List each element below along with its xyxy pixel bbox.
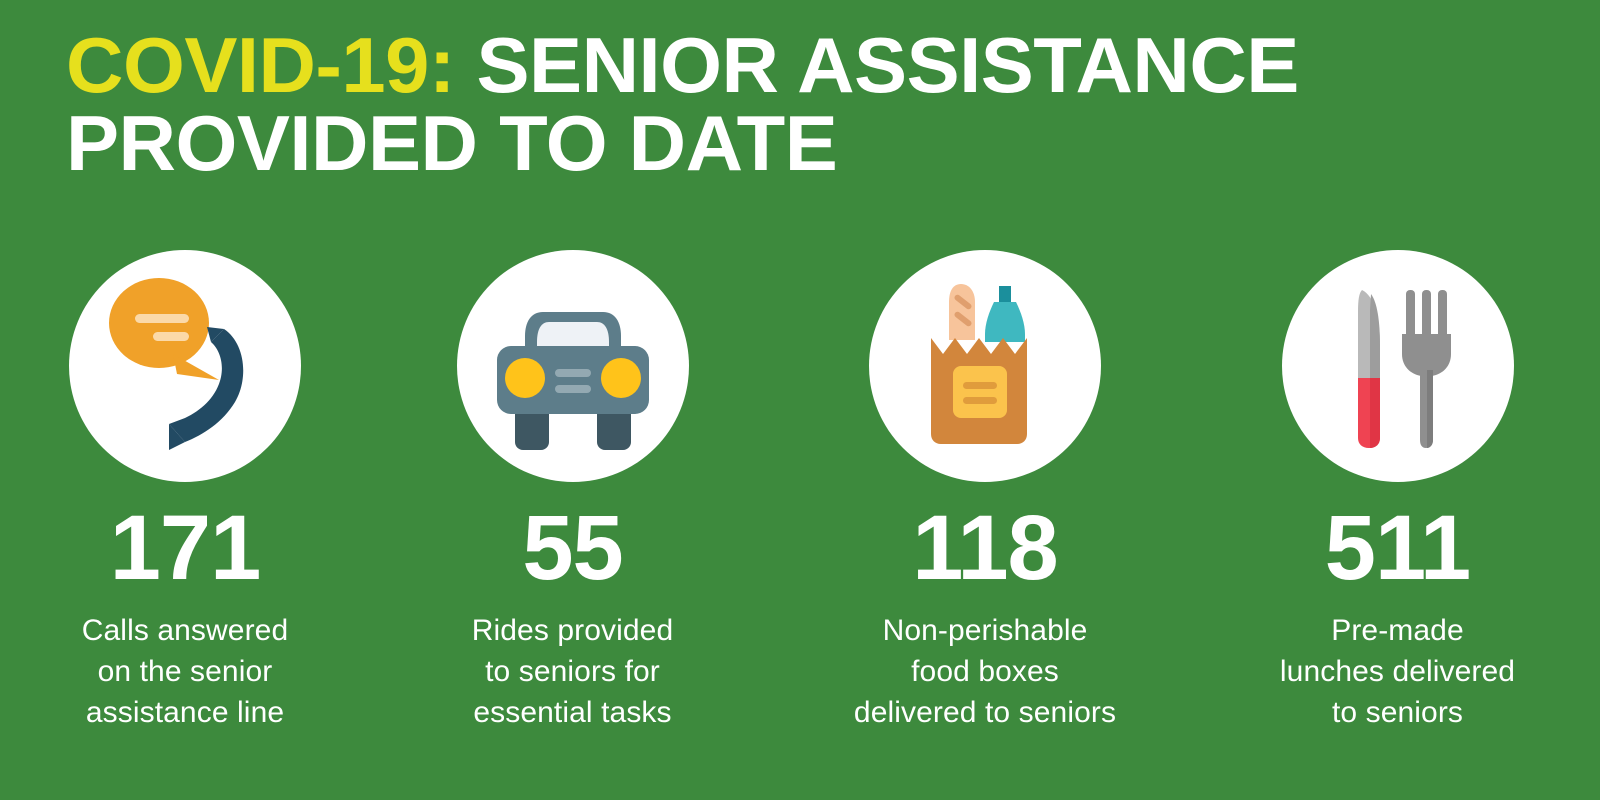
stat-number-food-boxes: 118	[912, 502, 1057, 594]
stat-column-rides: 55 Rides provided to seniors for essenti…	[370, 250, 775, 770]
stat-caption-food-boxes: Non-perishable food boxes delivered to s…	[854, 610, 1116, 733]
caption-line: Non-perishable	[854, 610, 1116, 651]
caption-line: to seniors for	[472, 651, 674, 692]
title-line-2: PROVIDED TO DATE	[66, 104, 1514, 182]
stat-number-rides: 55	[522, 502, 622, 594]
caption-line: lunches delivered	[1280, 651, 1515, 692]
stat-column-calls: 171 Calls answered on the senior assista…	[0, 250, 370, 770]
stat-number-lunches: 511	[1325, 502, 1470, 594]
stat-caption-rides: Rides provided to seniors for essential …	[472, 610, 674, 733]
caption-line: to seniors	[1280, 692, 1515, 733]
title-line-1: COVID-19: SENIOR ASSISTANCE	[66, 26, 1514, 104]
grocery-bag-icon	[869, 250, 1101, 482]
caption-line: essential tasks	[472, 692, 674, 733]
stats-row: 171 Calls answered on the senior assista…	[0, 250, 1600, 770]
icon-circle-lunches	[1282, 250, 1514, 482]
caption-line: delivered to seniors	[854, 692, 1116, 733]
stat-column-lunches: 511 Pre-made lunches delivered to senior…	[1195, 250, 1600, 770]
stat-column-food-boxes: 118 Non-perishable food boxes delivered …	[775, 250, 1195, 770]
title-accent-covid: COVID-19:	[66, 21, 455, 109]
caption-line: assistance line	[82, 692, 289, 733]
infographic-canvas: COVID-19: SENIOR ASSISTANCE PROVIDED TO …	[0, 0, 1600, 800]
page-title: COVID-19: SENIOR ASSISTANCE PROVIDED TO …	[66, 26, 1486, 182]
phone-speech-bubble-icon	[69, 250, 301, 482]
caption-line: Calls answered	[82, 610, 289, 651]
caption-line: Rides provided	[472, 610, 674, 651]
caption-line: Pre-made	[1280, 610, 1515, 651]
icon-circle-rides	[457, 250, 689, 482]
knife-fork-icon	[1282, 250, 1514, 482]
icon-circle-food-boxes	[869, 250, 1101, 482]
caption-line: food boxes	[854, 651, 1116, 692]
stat-number-calls: 171	[110, 502, 261, 594]
stat-caption-lunches: Pre-made lunches delivered to seniors	[1280, 610, 1515, 733]
title-line-1-rest: SENIOR ASSISTANCE	[455, 21, 1299, 109]
caption-line: on the senior	[82, 651, 289, 692]
car-front-icon	[457, 250, 689, 482]
icon-circle-calls	[69, 250, 301, 482]
stat-caption-calls: Calls answered on the senior assistance …	[82, 610, 289, 733]
